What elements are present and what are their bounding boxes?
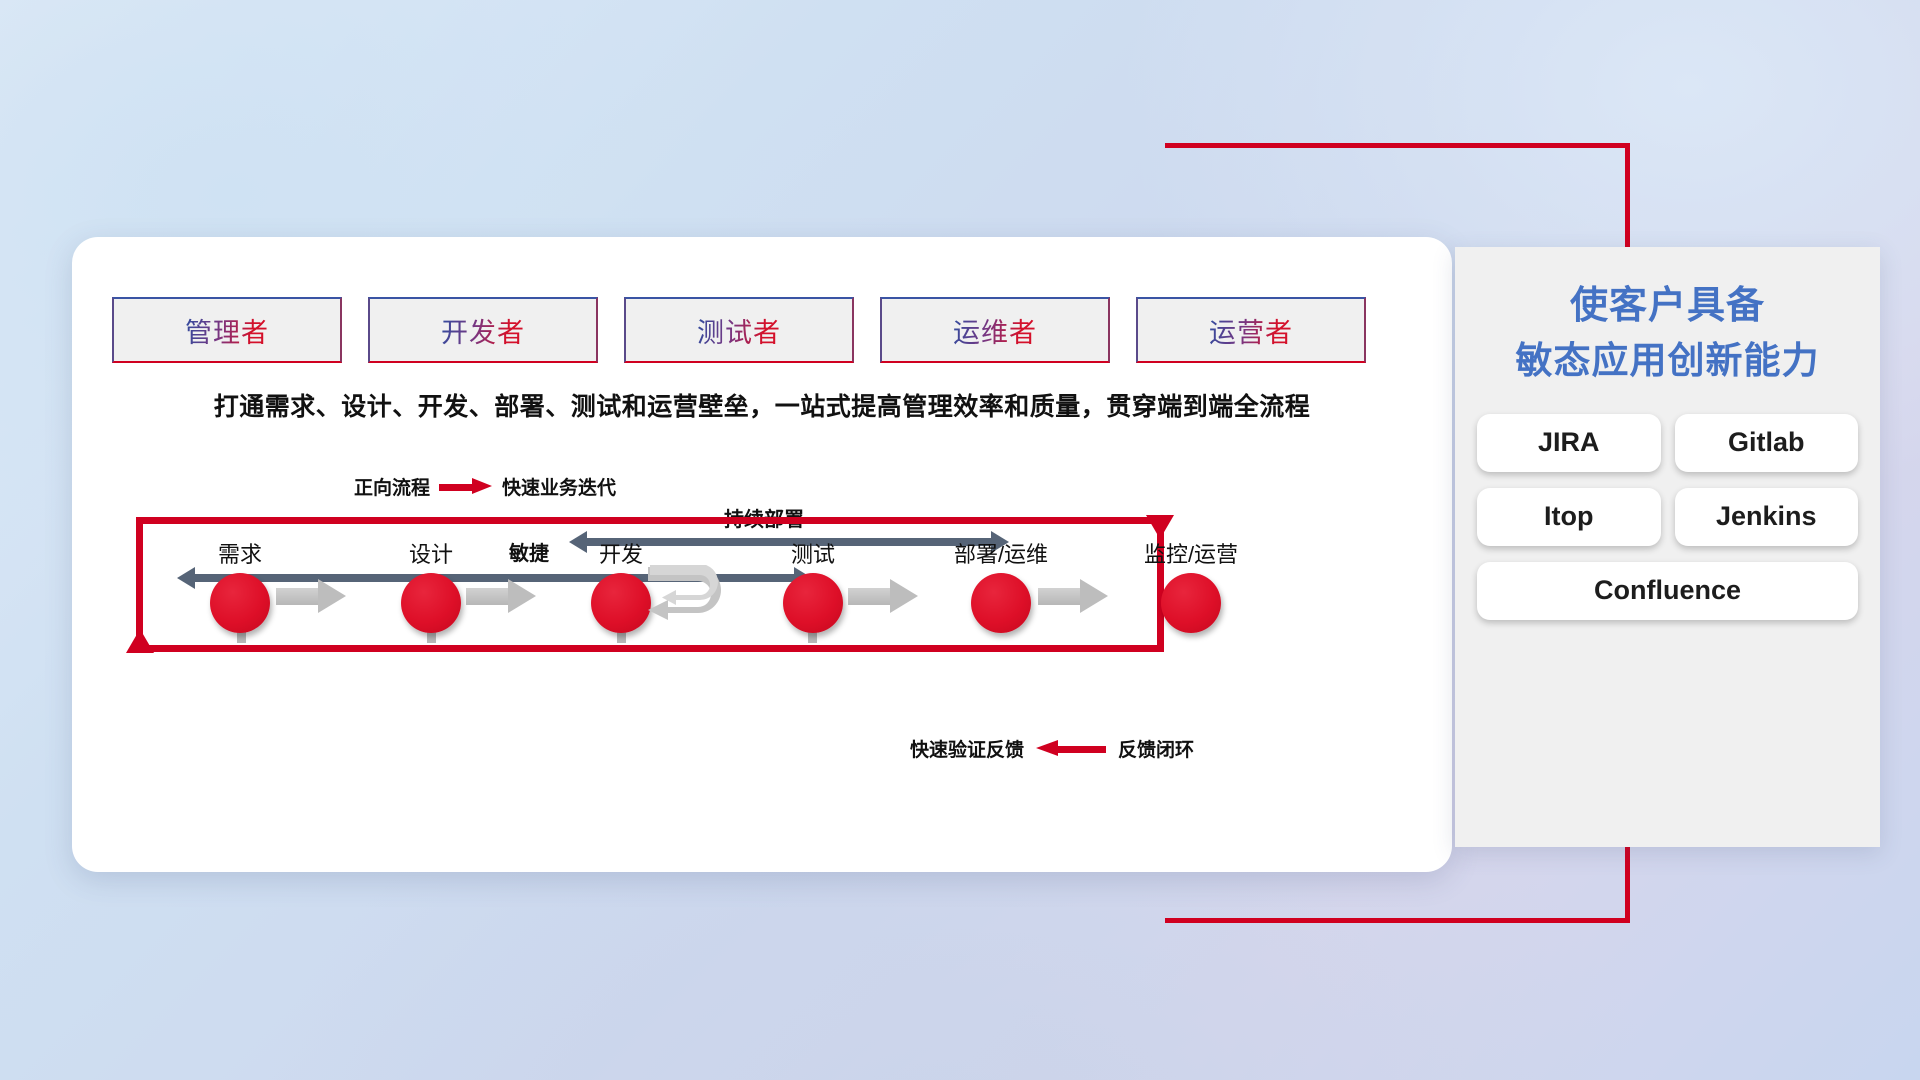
fast-validation-label: 快速验证反馈: [910, 735, 1024, 762]
value-panel: 使客户具备 敏态应用创新能力 JIRA Gitlab Itop Jenkins …: [1455, 247, 1880, 847]
arrow-deploy-to-monitor-icon: [1038, 579, 1108, 613]
role-box-manager[interactable]: 管理者: [112, 297, 342, 363]
role-box-operator[interactable]: 运营者: [1136, 297, 1366, 363]
stage-dot: [1161, 573, 1221, 633]
arrow-test-to-deploy-icon: [848, 579, 918, 613]
tool-tile-gitlab[interactable]: Gitlab: [1675, 414, 1859, 472]
role-label: 管理者: [185, 311, 269, 350]
stage-dot: [591, 573, 651, 633]
role-label: 运维者: [953, 311, 1037, 350]
stage-dot: [210, 573, 270, 633]
feedback-loop-label: 反馈闭环: [1118, 735, 1194, 762]
tool-list: JIRA Gitlab Itop Jenkins Confluence: [1477, 414, 1858, 620]
tool-tile-jira[interactable]: JIRA: [1477, 414, 1661, 472]
panel-title: 使客户具备 敏态应用创新能力: [1455, 247, 1880, 388]
role-label: 开发者: [441, 311, 525, 350]
panel-title-line1: 使客户具备: [1570, 285, 1765, 327]
fast-iteration-label: 快速业务迭代: [502, 473, 616, 500]
stage-monitor-operations[interactable]: 监控/运营: [1131, 537, 1251, 633]
stage-dot: [401, 573, 461, 633]
stage-label: 需求: [180, 537, 300, 569]
arrow-design-to-develop-icon: [466, 579, 536, 613]
stage-label: 部署/运维: [941, 537, 1061, 569]
role-box-ops[interactable]: 运维者: [880, 297, 1110, 363]
role-box-list: 管理者 开发者 测试者 运维者 运营者: [112, 297, 1366, 363]
loop-arrow-down-icon: [1146, 515, 1174, 539]
loop-path-top: [136, 517, 1164, 524]
tool-tile-itop[interactable]: Itop: [1477, 488, 1661, 546]
pipeline: 需求 设计 开发 测试: [108, 537, 1418, 667]
iteration-loop-arrow-icon: [646, 565, 730, 623]
tool-tile-confluence[interactable]: Confluence: [1477, 562, 1858, 620]
stage-dot: [783, 573, 843, 633]
forward-flow-legend: 正向流程 快速业务迭代: [354, 473, 616, 500]
panel-title-line2: 敏态应用创新能力: [1465, 334, 1870, 388]
forward-flow-label: 正向流程: [354, 473, 430, 500]
role-label: 测试者: [697, 311, 781, 350]
stage-dot: [971, 573, 1031, 633]
main-card: 管理者 开发者 测试者 运维者 运营者 打通需求、设计、开发、部署、测试和运营壁…: [72, 237, 1452, 872]
role-label: 运营者: [1209, 311, 1293, 350]
stage-label: 测试: [753, 537, 873, 569]
stage-label: 设计: [371, 537, 491, 569]
stage-label: 监控/运营: [1131, 537, 1251, 569]
arrow-requirement-to-design-icon: [276, 579, 346, 613]
arrow-right-red-icon: [439, 482, 493, 492]
description-text: 打通需求、设计、开发、部署、测试和运营壁垒，一站式提高管理效率和质量，贯穿端到端…: [112, 387, 1412, 423]
feedback-legend: 快速验证反馈 反馈闭环: [910, 735, 1194, 762]
arrow-left-red-icon: [1036, 744, 1106, 754]
tool-tile-jenkins[interactable]: Jenkins: [1675, 488, 1859, 546]
role-box-developer[interactable]: 开发者: [368, 297, 598, 363]
role-box-tester[interactable]: 测试者: [624, 297, 854, 363]
